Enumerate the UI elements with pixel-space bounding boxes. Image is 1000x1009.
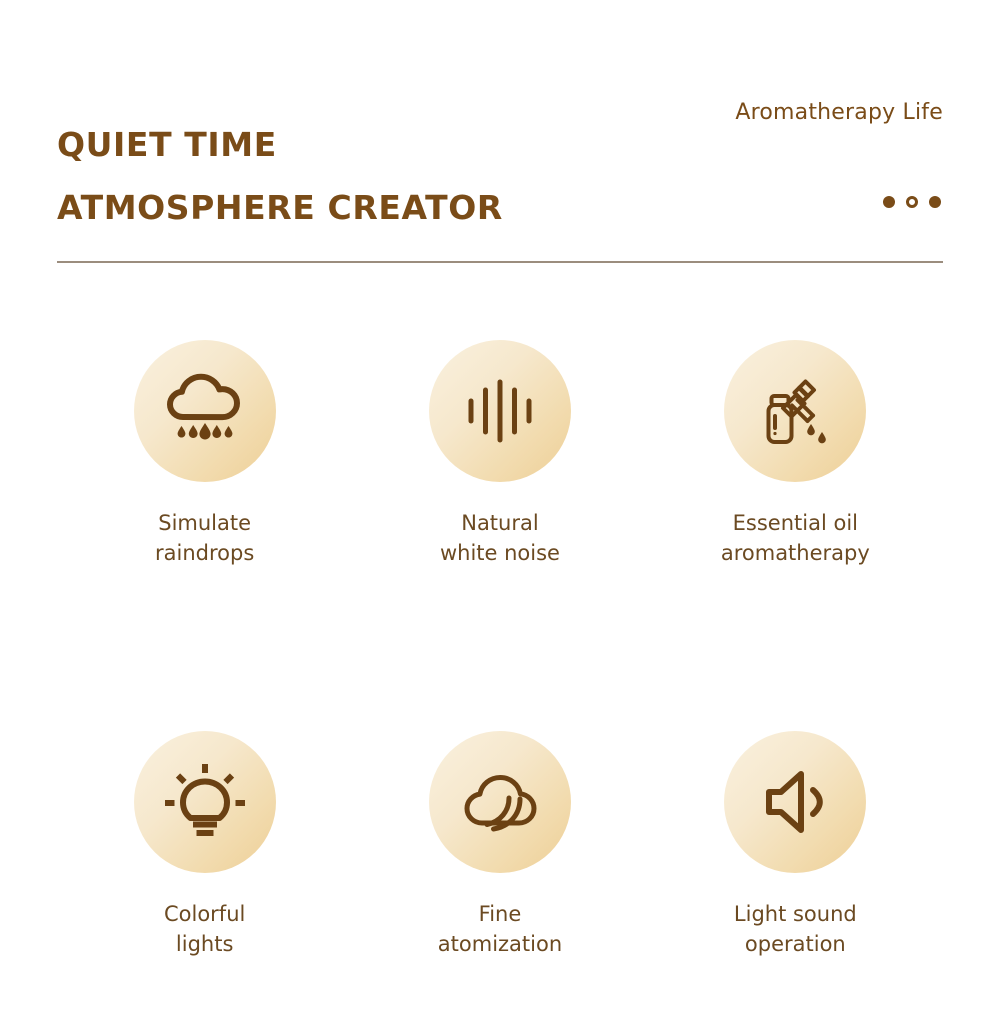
title-line-secondary: ATMOSPHERE CREATOR: [57, 177, 503, 240]
dot-indicator: [883, 196, 941, 208]
sound-wave-icon: [429, 340, 571, 482]
feature-label: Simulate raindrops: [155, 508, 254, 569]
feature-item: Essential oil aromatherapy: [675, 340, 915, 569]
feature-grid: Simulate raindrops Natural white noise: [57, 340, 943, 960]
dot-indicator-item-2: [906, 196, 918, 208]
dot-indicator-item-3: [929, 196, 941, 208]
eyebrow-text: Aromatherapy Life: [735, 100, 943, 125]
feature-item: Simulate raindrops: [85, 340, 325, 569]
page-header: QUIET TIME ATMOSPHERE CREATOR Aromathera…: [57, 100, 943, 230]
title-line-primary: QUIET TIME: [57, 114, 503, 177]
page-title: QUIET TIME ATMOSPHERE CREATOR: [57, 114, 503, 239]
header-divider: [57, 261, 943, 263]
feature-item: Fine atomization: [380, 731, 620, 960]
speaker-icon: [724, 731, 866, 873]
feature-label: Light sound operation: [734, 899, 857, 960]
feature-label: Fine atomization: [438, 899, 562, 960]
oil-dropper-icon: [724, 340, 866, 482]
promo-feature-page: QUIET TIME ATMOSPHERE CREATOR Aromathera…: [0, 0, 1000, 1009]
feature-item: Light sound operation: [675, 731, 915, 960]
feature-item: Natural white noise: [380, 340, 620, 569]
feature-item: Colorful lights: [85, 731, 325, 960]
mist-cloud-icon: [429, 731, 571, 873]
dot-indicator-item-1: [883, 196, 895, 208]
feature-label: Essential oil aromatherapy: [721, 508, 870, 569]
light-bulb-icon: [134, 731, 276, 873]
feature-label: Natural white noise: [440, 508, 560, 569]
rain-cloud-icon: [134, 340, 276, 482]
feature-label: Colorful lights: [164, 899, 245, 960]
